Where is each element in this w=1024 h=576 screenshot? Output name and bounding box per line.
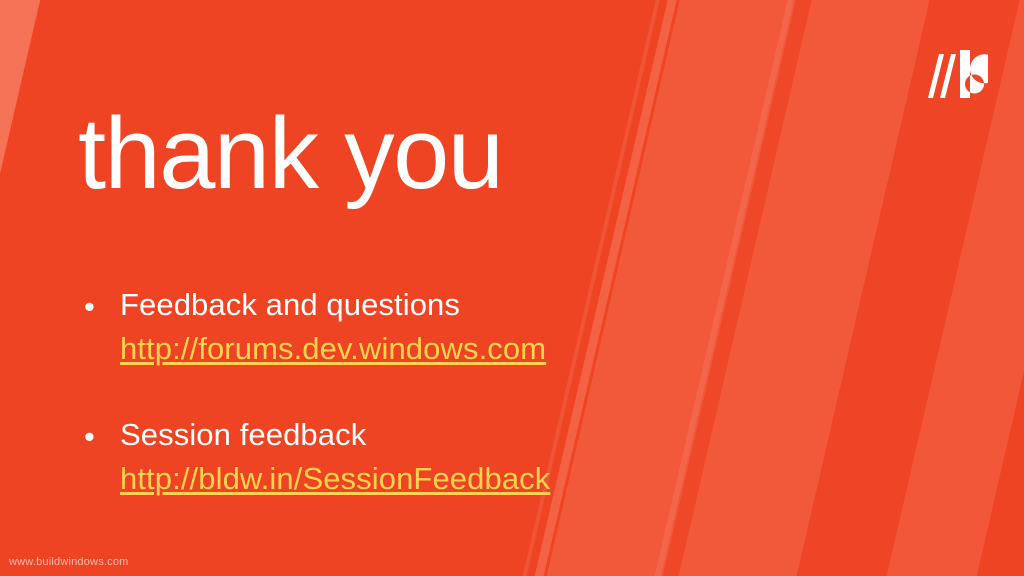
- page-title: thank you: [78, 104, 502, 205]
- bullet-label: Session feedback: [120, 413, 718, 457]
- bullet-label: Feedback and questions: [120, 283, 718, 327]
- presentation-slide: thank you • Feedback and questions http:…: [0, 0, 1024, 576]
- bullet-marker-icon: •: [78, 283, 120, 331]
- list-item: • Session feedback http://bldw.in/Sessio…: [78, 413, 718, 501]
- bullet-marker-icon: •: [78, 413, 120, 461]
- slide-content: thank you • Feedback and questions http:…: [0, 0, 1024, 576]
- bullet-list: • Feedback and questions http://forums.d…: [78, 283, 718, 501]
- feedback-forum-link[interactable]: http://forums.dev.windows.com: [120, 327, 546, 371]
- footer-url: www.buildwindows.com: [9, 555, 129, 569]
- list-item: • Feedback and questions http://forums.d…: [78, 283, 718, 371]
- build-logo: [916, 50, 988, 106]
- session-feedback-link[interactable]: http://bldw.in/SessionFeedback: [120, 457, 550, 501]
